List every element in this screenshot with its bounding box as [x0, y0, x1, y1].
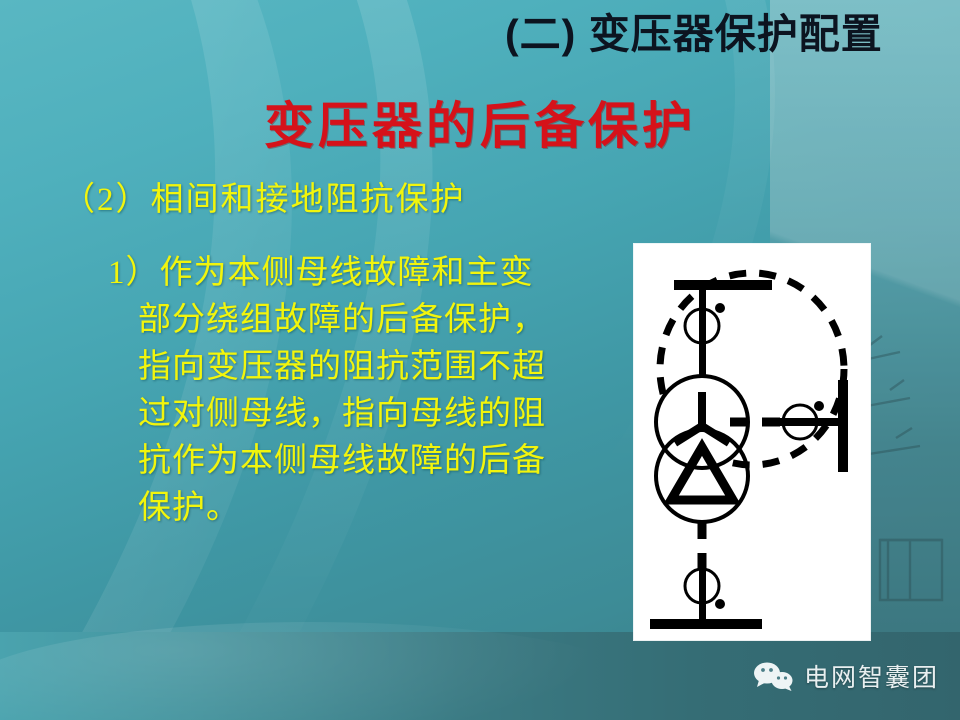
body-line: 过对侧母线，指向母线的阻	[108, 391, 613, 438]
right-polarity-dot	[814, 401, 824, 411]
slide-canvas: (二) 变压器保护配置 变压器的后备保护 （2）相间和接地阻抗保护 1）作为本侧…	[0, 0, 960, 720]
body-line: 保护。	[108, 485, 613, 532]
right-conductor	[780, 418, 846, 426]
wechat-icon	[752, 661, 794, 691]
lower-conductor	[699, 564, 706, 624]
bottom-polarity-dot	[715, 599, 725, 609]
watermark-label: 电网智囊团	[804, 658, 939, 694]
body-line: 抗作为本侧母线故障的后备	[108, 438, 613, 485]
right-busbar	[838, 380, 848, 472]
top-polarity-dot	[715, 303, 725, 313]
top-busbar	[674, 280, 772, 290]
section-subtitle: （2）相间和接地阻抗保护	[62, 180, 466, 221]
body-text-block: 1）作为本侧母线故障和主变 部分绕组故障的后备保护， 指向变压器的阻抗范围不超 …	[108, 250, 613, 532]
watermark: 电网智囊团	[752, 658, 939, 694]
single-line-diagram-panel	[634, 244, 870, 640]
page-title: 变压器的后备保护	[0, 98, 960, 154]
body-line: 指向变压器的阻抗范围不超	[108, 344, 613, 391]
header-title: (二) 变压器保护配置	[505, 12, 925, 57]
body-line: 1）作为本侧母线故障和主变	[108, 250, 613, 297]
body-line: 部分绕组故障的后备保护，	[108, 297, 613, 344]
bottom-busbar	[650, 619, 762, 629]
